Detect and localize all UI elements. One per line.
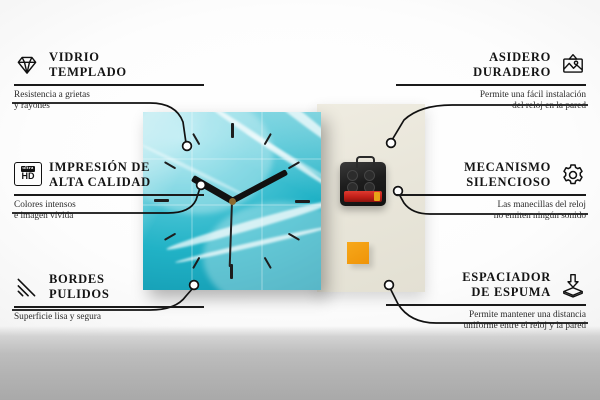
feature-divider <box>14 84 204 86</box>
feature-title: ESPACIADOR DE ESPUMA <box>462 270 551 299</box>
feature-divider <box>396 84 586 86</box>
feature-title: IMPRESIÓN DE ALTA CALIDAD <box>49 160 151 189</box>
feature-divider <box>14 306 204 308</box>
feature-title: BORDES PULIDOS <box>49 272 109 301</box>
feature-mecanismo-silencioso: MECANISMO SILENCIOSO Las manecillas del … <box>396 160 586 222</box>
feature-bordes-pulidos: BORDES PULIDOS Superficie lisa y segura <box>14 272 204 323</box>
feature-description: Resistencia a grietas y rayones <box>14 90 204 113</box>
polished-edges-icon <box>14 274 40 300</box>
feature-description: Las manecillas del reloj no emiten ningú… <box>396 200 586 223</box>
feature-description: Superficie lisa y segura <box>14 312 204 323</box>
clock-mechanism <box>340 162 386 206</box>
feature-description: Colores intensos e imagen vívida <box>14 200 204 223</box>
clock-tick <box>231 123 233 201</box>
clock-center-cap <box>229 198 236 205</box>
surface-floor <box>0 336 600 400</box>
feature-title: ASIDERO DURADERO <box>473 50 551 79</box>
foam-spacer-part <box>347 242 369 264</box>
feature-divider <box>14 194 204 196</box>
feature-description: Permite mantener una distancia uniforme … <box>386 310 586 333</box>
foam-spacer-icon <box>560 272 586 298</box>
feature-espaciador-de-espuma: ESPACIADOR DE ESPUMA Permite mantener un… <box>386 270 586 332</box>
gear-icon <box>560 162 586 188</box>
feature-divider <box>386 304 586 306</box>
diamond-icon <box>14 52 40 78</box>
feature-vidrio-templado: VIDRIO TEMPLADO Resistencia a grietas y … <box>14 50 204 112</box>
ultra-hd-icon: ultra HD <box>14 162 40 188</box>
clock-tick <box>232 200 310 202</box>
mechanism-hanger <box>356 156 375 168</box>
wall-hanger-icon <box>560 52 586 78</box>
feature-title: MECANISMO SILENCIOSO <box>464 160 551 189</box>
feature-asidero-duradero: ASIDERO DURADERO Permite una fácil insta… <box>396 50 586 112</box>
feature-divider <box>396 194 586 196</box>
feature-description: Permite una fácil instalación del reloj … <box>396 90 586 113</box>
feature-impresion-alta-calidad: ultra HD IMPRESIÓN DE ALTA CALIDAD Color… <box>14 160 204 222</box>
mechanism-battery <box>344 191 382 202</box>
feature-title: VIDRIO TEMPLADO <box>49 50 127 79</box>
infographic-canvas: VIDRIO TEMPLADO Resistencia a grietas y … <box>0 0 600 400</box>
